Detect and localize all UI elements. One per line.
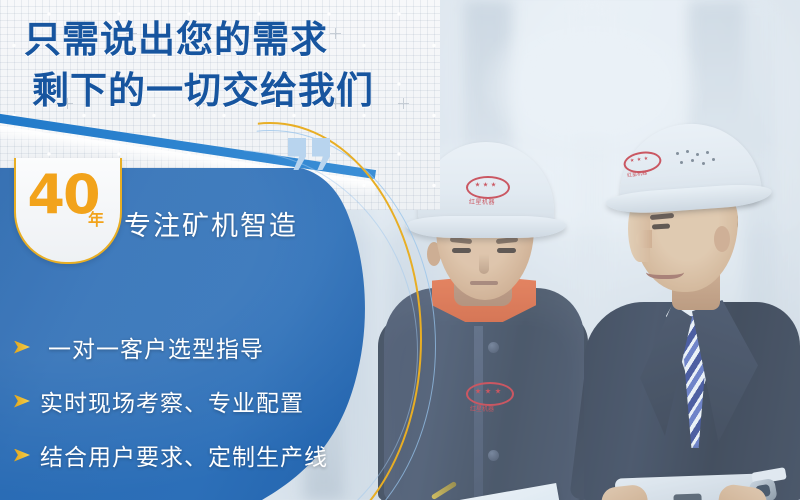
bullet-text: 实时现场考察、专业配置 xyxy=(40,384,304,418)
headline-line-1: 只需说出您的需求 xyxy=(24,14,424,65)
bullet-text: 结合用户要求、定制生产线 xyxy=(40,438,328,472)
arrow-marker-icon xyxy=(14,395,30,408)
quotation-mark-icon xyxy=(288,138,336,174)
arrow-marker-icon xyxy=(14,341,30,354)
years-badge: 40 年 xyxy=(14,158,122,264)
headline: 只需说出您的需求 剩下的一切交给我们 xyxy=(24,14,424,116)
list-item: 结合用户要求、定制生产线 xyxy=(14,438,344,472)
years-badge-unit: 年 xyxy=(88,206,104,230)
subheadline: 专注矿机智造 xyxy=(124,204,298,243)
list-item: 一对一客户选型指导 xyxy=(14,330,344,364)
headline-line-2: 剩下的一切交给我们 xyxy=(32,65,424,116)
list-item: 实时现场考察、专业配置 xyxy=(14,384,344,418)
bullet-text: 一对一客户选型指导 xyxy=(48,330,264,364)
arrow-marker-icon xyxy=(14,449,30,462)
promo-banner: 红星机器 红星机器 xyxy=(0,0,800,500)
feature-bullet-list: 一对一客户选型指导 实时现场考察、专业配置 结合用户要求、定制生产线 xyxy=(14,330,344,492)
